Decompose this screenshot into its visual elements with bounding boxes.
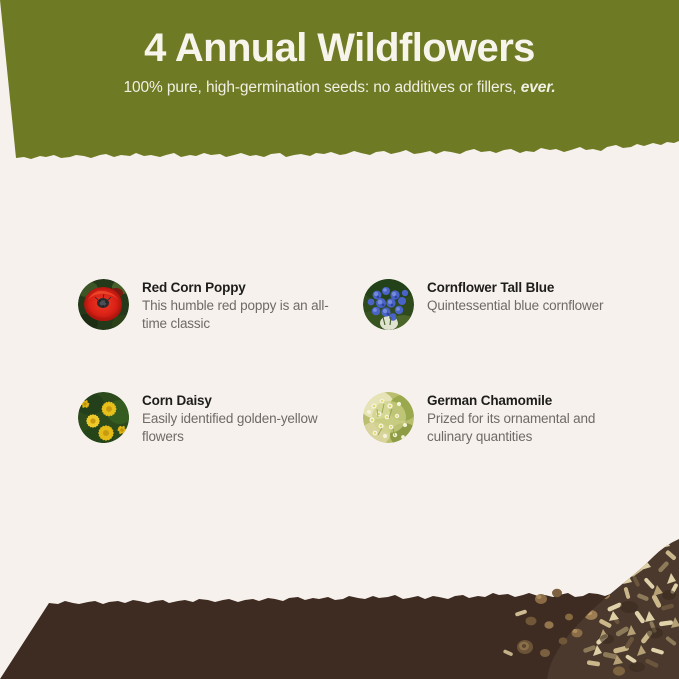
german-chamomile-photo-icon [363, 392, 414, 443]
flower-description: Prized for its ornamental and culinary q… [427, 410, 627, 446]
list-item: German Chamomile Prized for its ornament… [363, 385, 638, 445]
page-subtitle: 100% pure, high-germination seeds: no ad… [0, 71, 679, 97]
flower-name: Red Corn Poppy [142, 279, 342, 297]
header-text-block: 4 Annual Wildflowers 100% pure, high-ger… [0, 0, 679, 140]
header-band: 4 Annual Wildflowers 100% pure, high-ger… [0, 0, 679, 172]
list-item-text: Red Corn Poppy This humble red poppy is … [142, 272, 342, 332]
flower-description: Quintessential blue cornflower [427, 297, 603, 315]
red-corn-poppy-photo-icon [78, 279, 129, 330]
list-item-text: German Chamomile Prized for its ornament… [427, 385, 627, 445]
footer-band [0, 549, 679, 679]
flower-name: Corn Daisy [142, 392, 342, 410]
flower-description: This humble red poppy is an all-time cla… [142, 297, 342, 333]
flower-name: Cornflower Tall Blue [427, 279, 603, 297]
subtitle-lead: 100% pure, high-germination seeds: no ad… [123, 79, 520, 96]
flower-description: Easily identified golden-yellow flowers [142, 410, 342, 446]
corn-daisy-photo-icon [78, 392, 129, 443]
subtitle-emphasis: ever. [521, 79, 556, 96]
list-item-text: Corn Daisy Easily identified golden-yell… [142, 385, 342, 445]
flower-list: Red Corn Poppy This humble red poppy is … [78, 272, 638, 445]
product-infographic: 4 Annual Wildflowers 100% pure, high-ger… [0, 0, 679, 679]
list-item-text: Cornflower Tall Blue Quintessential blue… [427, 272, 603, 315]
list-item: Cornflower Tall Blue Quintessential blue… [363, 272, 638, 385]
flower-name: German Chamomile [427, 392, 627, 410]
list-item: Red Corn Poppy This humble red poppy is … [78, 272, 353, 385]
cornflower-tall-blue-photo-icon [363, 279, 414, 330]
list-item: Corn Daisy Easily identified golden-yell… [78, 385, 353, 445]
torn-paper-edge-bottom-icon [0, 549, 679, 679]
page-title: 4 Annual Wildflowers [0, 0, 679, 71]
